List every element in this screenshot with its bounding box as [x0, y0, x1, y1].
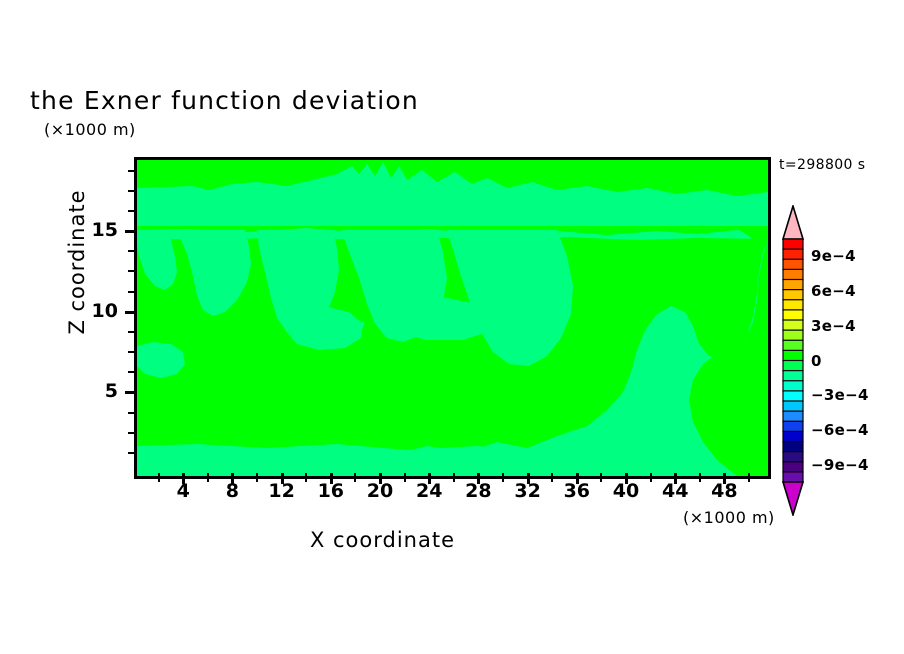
colorbar-band — [783, 442, 803, 453]
colorbar-over-cap — [783, 206, 803, 239]
y-tick-major — [125, 230, 137, 233]
colorbar-band — [783, 411, 803, 422]
colorbar-tick-label: 0 — [811, 352, 822, 370]
x-tick-label: 20 — [360, 480, 400, 502]
x-tick-label: 4 — [163, 480, 203, 502]
colorbar-band — [783, 371, 803, 382]
x-tick-minor — [305, 473, 307, 482]
x-tick-minor — [551, 473, 553, 482]
x-tick-minor — [256, 473, 258, 482]
colorbar[interactable] — [782, 205, 804, 516]
x-tick-minor — [600, 473, 602, 482]
figure-canvas: the Exner function deviation (×1000 m) (… — [0, 0, 904, 654]
y-tick-label: 10 — [78, 300, 118, 322]
x-tick-minor — [207, 473, 209, 482]
y-tick-minor — [128, 210, 137, 212]
colorbar-band — [783, 401, 803, 412]
z-axis-units-label: (×1000 m) — [44, 120, 136, 139]
y-tick-label: 5 — [78, 380, 118, 402]
colorbar-tick-label: 6e−4 — [811, 282, 856, 300]
x-tick-minor — [650, 473, 652, 482]
colorbar-tick-label: 9e−4 — [811, 247, 856, 265]
y-tick-minor — [128, 170, 137, 172]
colorbar-band — [783, 472, 803, 483]
colorbar-band — [783, 462, 803, 473]
x-axis-units-label: (×1000 m) — [683, 508, 775, 527]
x-tick-label: 48 — [704, 480, 744, 502]
x-tick-label: 32 — [508, 480, 548, 502]
colorbar-gradient — [782, 205, 804, 516]
contour-field — [137, 160, 768, 476]
x-tick-minor — [404, 473, 406, 482]
colorbar-band — [783, 239, 803, 250]
x-tick-minor — [699, 473, 701, 482]
colorbar-tick-label: −6e−4 — [811, 421, 869, 439]
x-tick-label: 12 — [262, 480, 302, 502]
y-tick-minor — [128, 190, 137, 192]
colorbar-tick-label: −3e−4 — [811, 386, 869, 404]
y-tick-major — [125, 311, 137, 314]
y-tick-minor — [128, 412, 137, 414]
x-axis-title: X coordinate — [0, 528, 765, 552]
colorbar-under-cap — [783, 482, 803, 515]
y-tick-minor — [128, 452, 137, 454]
y-tick-minor — [128, 291, 137, 293]
colorbar-band — [783, 300, 803, 311]
x-tick-label: 44 — [655, 480, 695, 502]
colorbar-band — [783, 259, 803, 270]
colorbar-band — [783, 431, 803, 442]
colorbar-band — [783, 340, 803, 351]
x-tick-label: 36 — [557, 480, 597, 502]
x-tick-minor — [502, 473, 504, 482]
x-tick-minor — [158, 473, 160, 482]
x-tick-minor — [354, 473, 356, 482]
y-tick-minor — [128, 351, 137, 353]
y-tick-minor — [128, 371, 137, 373]
x-tick-label: 24 — [409, 480, 449, 502]
colorbar-tick-label: −9e−4 — [811, 456, 869, 474]
x-tick-minor — [453, 473, 455, 482]
colorbar-band — [783, 330, 803, 341]
y-tick-major — [125, 391, 137, 394]
y-axis-title: Z coordinate — [65, 152, 89, 372]
x-tick-label: 40 — [606, 480, 646, 502]
timestamp-label: t=298800 s — [779, 157, 865, 173]
colorbar-band — [783, 290, 803, 301]
y-tick-minor — [128, 270, 137, 272]
colorbar-band — [783, 381, 803, 392]
y-tick-minor — [128, 331, 137, 333]
colorbar-band — [783, 269, 803, 280]
colorbar-band — [783, 350, 803, 361]
colorbar-band — [783, 391, 803, 402]
y-tick-minor — [128, 432, 137, 434]
y-tick-label: 15 — [78, 219, 118, 241]
x-tick-minor — [748, 473, 750, 482]
colorbar-band — [783, 310, 803, 321]
colorbar-tick-label: 3e−4 — [811, 317, 856, 335]
colorbar-band — [783, 249, 803, 260]
y-tick-minor — [128, 250, 137, 252]
colorbar-band — [783, 320, 803, 331]
x-tick-label: 16 — [311, 480, 351, 502]
colorbar-band — [783, 361, 803, 372]
colorbar-band — [783, 452, 803, 463]
page-title: the Exner function deviation — [0, 86, 904, 115]
x-tick-label: 8 — [212, 480, 252, 502]
x-tick-label: 28 — [458, 480, 498, 502]
colorbar-band — [783, 421, 803, 432]
colorbar-band — [783, 280, 803, 291]
contour-plot-area — [134, 157, 771, 479]
